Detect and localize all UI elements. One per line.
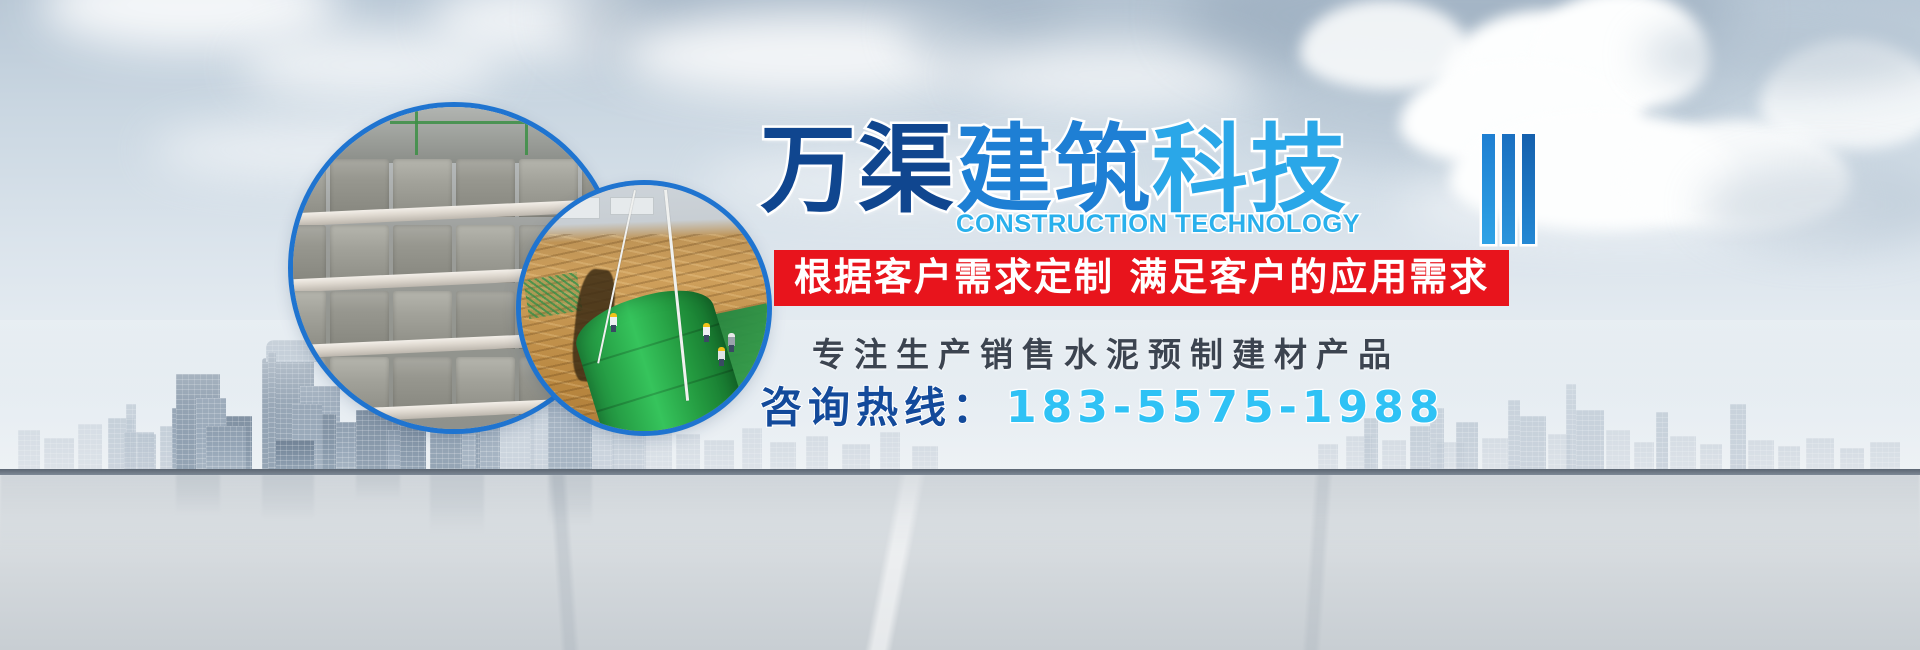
hotline-label: 咨询热线： [760,383,1000,432]
red-banner-text: 根据客户需求定制 满足客户的应用需求 [794,255,1489,299]
company-hero-banner: 万渠建筑科技 CONSTRUCTION TECHNOLOGY 根据客户需求定制 … [0,0,1920,650]
company-slogan: 专注生产销售水泥预制建材产品 [812,328,1400,376]
company-name-en: CONSTRUCTION TECHNOLOGY [956,210,1360,239]
bar-3 [1522,134,1535,244]
bar-1 [1482,134,1495,244]
company-name-char-1: 万 [760,114,858,226]
pallet-top [293,107,615,163]
company-name-cn: 万渠建筑科技 [760,122,1348,218]
bar-2 [1502,134,1515,244]
logo-row: 万渠建筑科技 CONSTRUCTION TECHNOLOGY [760,128,1880,240]
green-safety-net [523,272,583,319]
company-name-char-2: 渠 [858,114,956,226]
red-highlight-banner: 根据客户需求定制 满足客户的应用需求 [774,250,1509,306]
worker-site-1 [703,323,710,342]
worker-site-2 [728,333,735,352]
worker-on-tank [610,313,617,332]
banner-text-block: 万渠建筑科技 CONSTRUCTION TECHNOLOGY 根据客户需求定制 … [760,128,1880,508]
excavation-site-image [521,185,767,431]
hotline-row: 咨询热线：183-5575-1988 [760,386,1444,430]
hotline-number[interactable]: 183-5575-1988 [1006,382,1444,433]
decorative-bars-icon [1482,134,1548,244]
project-photo-septic-tank-install[interactable] [521,185,767,431]
worker-site-3 [718,347,725,366]
